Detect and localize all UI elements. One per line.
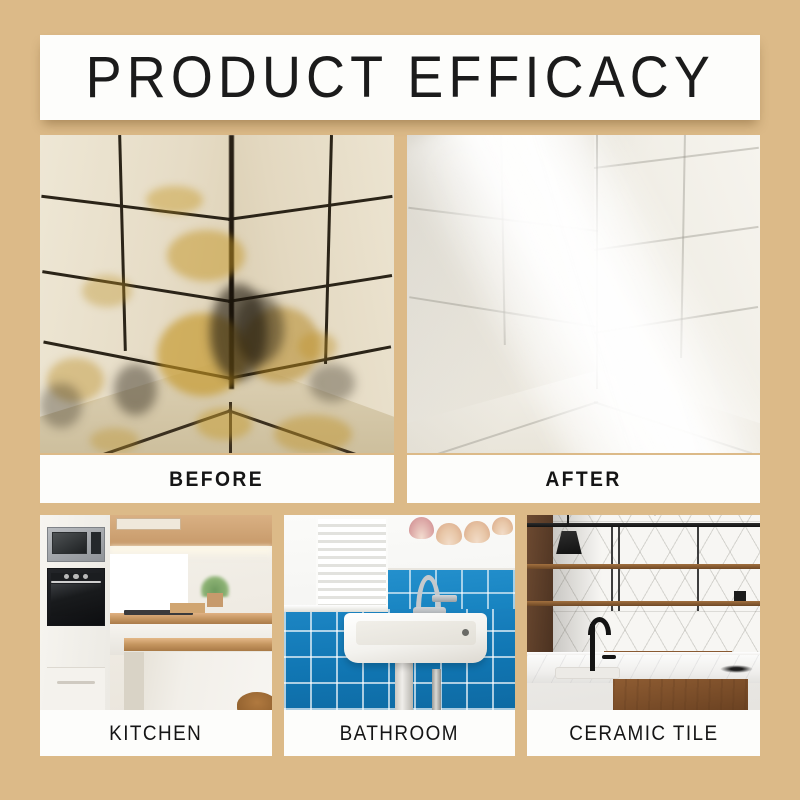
wooden-stool	[237, 692, 272, 710]
after-label: AFTER	[545, 469, 621, 490]
plant-pot	[207, 593, 223, 607]
ceramic-tile-photo	[527, 515, 760, 710]
bathroom-label-card: BATHROOM	[284, 710, 515, 756]
before-photo	[40, 135, 394, 453]
oven-knob	[64, 574, 69, 579]
bathroom-label: BATHROOM	[340, 723, 459, 744]
cabinet-door	[116, 518, 181, 530]
bathroom-photo	[284, 515, 515, 710]
oven-door-glass	[51, 584, 100, 616]
floating-shelf	[527, 564, 760, 569]
oven	[47, 568, 105, 627]
pendant-cord	[567, 515, 570, 527]
drawer-handle	[57, 681, 94, 684]
seashell-icon	[492, 517, 513, 535]
stain	[298, 332, 337, 361]
kitchen-label: KITCHEN	[109, 723, 202, 744]
shelf-canister	[734, 591, 746, 601]
faucet-lever	[602, 655, 616, 659]
walnut-cabinet	[613, 679, 748, 710]
page-title: PRODUCT EFFICACY	[85, 49, 714, 107]
before-label-card: BEFORE	[40, 455, 394, 503]
window-sill	[284, 605, 388, 612]
ceramic-tile-label-card: CERAMIC TILE	[527, 710, 760, 756]
sink-pedestal	[395, 661, 413, 710]
stain	[82, 275, 132, 307]
mold-patch	[309, 364, 355, 402]
oven-knob	[83, 574, 88, 579]
title-card: PRODUCT EFFICACY	[40, 35, 760, 120]
dark-wood-panel	[527, 515, 553, 667]
window-shutter	[316, 517, 388, 611]
pedestal-sink	[344, 613, 487, 664]
island-side-panel	[124, 652, 145, 711]
island-countertop	[124, 638, 272, 652]
mold-patch	[235, 294, 285, 364]
drain-pipe	[432, 669, 441, 710]
kitchen-label-card: KITCHEN	[40, 710, 272, 756]
oven-knob	[73, 574, 78, 579]
floating-shelf	[527, 601, 760, 606]
seashell-icon	[409, 517, 434, 539]
gas-burner	[720, 665, 753, 673]
oven-control-bar	[51, 573, 100, 580]
after-photo	[407, 135, 760, 453]
microwave-control-panel	[91, 532, 101, 554]
undermount-sink	[555, 667, 620, 679]
overflow-drain	[462, 629, 469, 636]
mold-patch	[114, 364, 156, 415]
cutting-board	[170, 603, 205, 613]
microwave	[47, 527, 105, 562]
base-drawer	[47, 667, 105, 710]
poster-canvas: PRODUCT EFFICACY	[0, 0, 800, 800]
before-label: BEFORE	[170, 469, 265, 490]
faucet-handle	[432, 595, 457, 602]
faucet-stem	[590, 624, 596, 671]
stain	[274, 415, 352, 453]
sink-basin	[356, 621, 476, 645]
after-label-card: AFTER	[407, 455, 760, 503]
stain	[90, 428, 140, 453]
microwave-window	[52, 532, 87, 554]
seashell-icon	[436, 523, 461, 545]
ceiling-rail	[527, 523, 760, 527]
mold-patch	[40, 383, 82, 428]
seashell-icon	[464, 521, 489, 543]
ceramic-tile-label: CERAMIC TILE	[569, 723, 718, 744]
upper-cabinets	[110, 515, 272, 546]
kitchen-photo	[40, 515, 272, 710]
